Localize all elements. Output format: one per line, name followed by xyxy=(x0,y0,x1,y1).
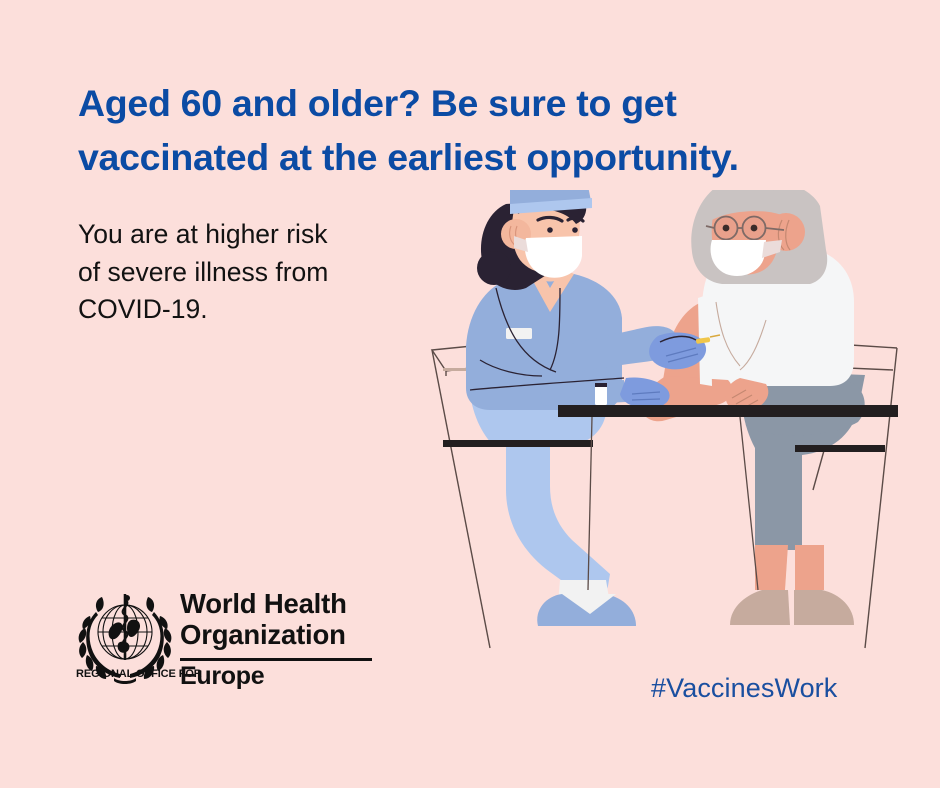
who-logo: World Health Organization REGIONAL OFFIC… xyxy=(76,586,376,702)
who-logo-divider xyxy=(180,658,372,661)
chair-left-seat xyxy=(443,440,593,447)
who-wordmark: World Health Organization xyxy=(180,588,376,650)
chair-right-seat xyxy=(795,445,885,452)
vaccination-scene-svg xyxy=(410,190,940,660)
nurse-eye-right xyxy=(572,227,578,233)
page-title: Aged 60 and older? Be sure to get vaccin… xyxy=(78,76,878,185)
vaccination-illustration xyxy=(410,190,940,660)
hashtag-vaccines-work: #VaccinesWork xyxy=(651,673,837,704)
nurse-eye-left xyxy=(547,227,553,233)
nurse-lower-leg xyxy=(506,440,610,598)
patient-shoe-left xyxy=(730,590,790,625)
poster-canvas: Aged 60 and older? Be sure to get vaccin… xyxy=(0,0,940,788)
table-top xyxy=(558,405,898,417)
patient-left-shin xyxy=(755,545,788,590)
patient-shoe-right xyxy=(794,590,854,625)
patient-right-shin xyxy=(795,545,824,590)
nurse-hair-bun xyxy=(477,251,511,285)
who-name-line2: Organization xyxy=(180,619,376,650)
subheadline-text: You are at higher risk of severe illness… xyxy=(78,216,428,329)
who-region-name: Europe xyxy=(180,662,264,691)
vaccine-vial-icon xyxy=(595,383,607,405)
who-name-line1: World Health xyxy=(180,588,376,619)
